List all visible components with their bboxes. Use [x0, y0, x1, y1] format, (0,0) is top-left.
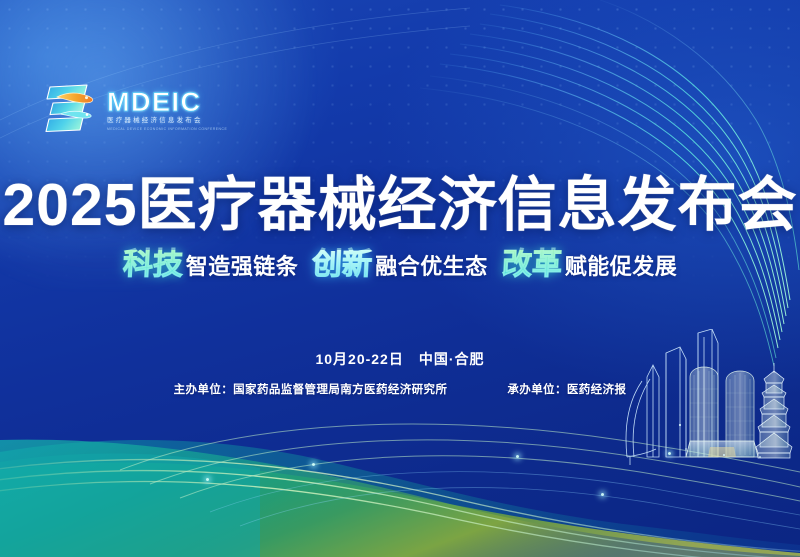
- slogan-rest-1: 智造强链条: [186, 256, 299, 278]
- slogan-rest-3: 赋能促发展: [565, 256, 678, 278]
- slogan-keyword-3: 改革: [501, 250, 566, 280]
- slogan-phrase-3: 改革 赋能促发展: [502, 250, 678, 280]
- date-and-venue: 10月20-22日 中国·合肥: [0, 349, 800, 369]
- brand-wordmark: MDEIC: [107, 89, 227, 116]
- organizer-row: 主办单位：国家药品监督管理局南方医药经济研究所 承办单位：医药经济报: [0, 381, 800, 397]
- brand-wordmark-group: MDEIC 医疗器械经济信息发布会 MEDICAL DEVICE ECONOMI…: [107, 89, 227, 131]
- slogan-rest-2: 融合优生态: [375, 256, 488, 278]
- brand-wordmark-cn: 医疗器械经济信息发布会: [107, 118, 227, 125]
- sparkle-dot: [601, 493, 604, 496]
- brand-wordmark-en: MEDICAL DEVICE ECONOMIC INFORMATION CONF…: [107, 128, 227, 131]
- conference-poster: MDEIC 医疗器械经济信息发布会 MEDICAL DEVICE ECONOMI…: [0, 0, 800, 557]
- slogan-keyword-1: 科技: [122, 250, 187, 280]
- poster-title: 2025医疗器械经济信息发布会: [0, 176, 800, 235]
- sparkle-dot: [516, 455, 519, 458]
- brand-logo[interactable]: MDEIC 医疗器械经济信息发布会 MEDICAL DEVICE ECONOMI…: [40, 82, 227, 138]
- poster-slogan: 科技 智造强链条 创新 融合优生态 改革 赋能促发展: [0, 250, 800, 280]
- mdeic-stacked-bars-logo-icon: [40, 82, 98, 138]
- slogan-phrase-2: 创新 融合优生态: [312, 250, 488, 280]
- sparkle-dot: [312, 463, 315, 466]
- host-organization: 主办单位：国家药品监督管理局南方医药经济研究所: [174, 381, 448, 397]
- slogan-keyword-2: 创新: [311, 250, 376, 280]
- sparkle-dot: [206, 478, 209, 481]
- organizing-unit: 承办单位：医药经济报: [507, 381, 626, 397]
- slogan-phrase-1: 科技 智造强链条: [123, 250, 299, 280]
